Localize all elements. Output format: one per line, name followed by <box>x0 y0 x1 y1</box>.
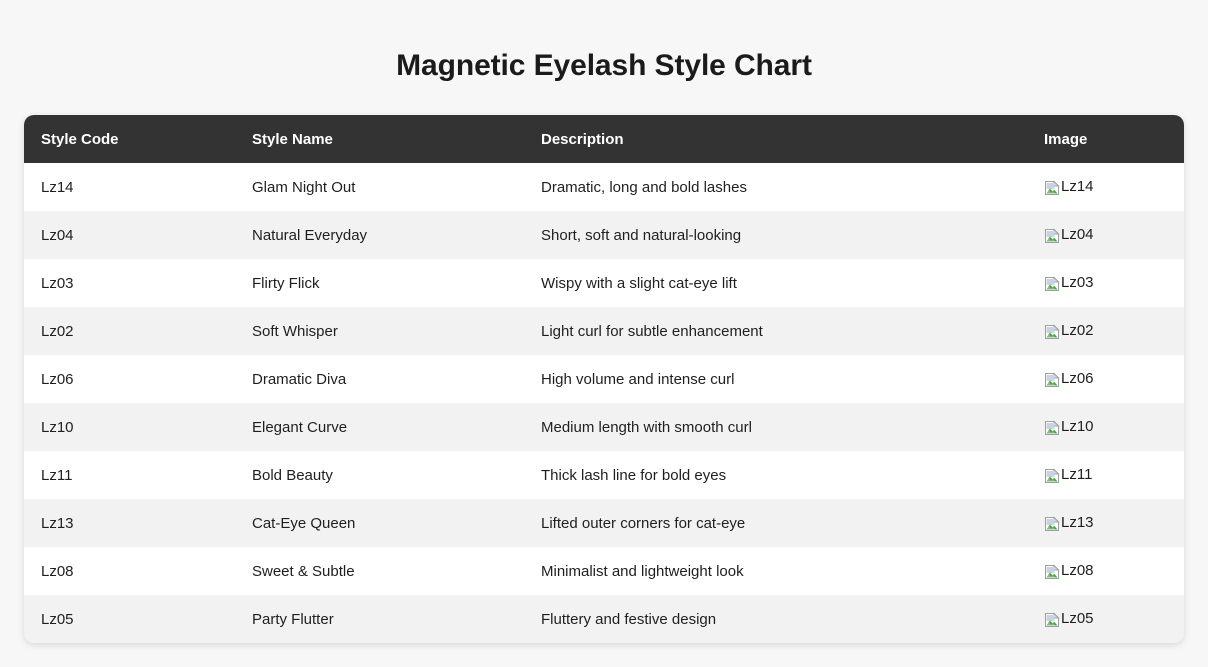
style-chart-card: Style Code Style Name Description Image … <box>24 115 1184 643</box>
cell-style-name: Party Flutter <box>235 595 524 643</box>
cell-image: Lz13 <box>1027 499 1184 547</box>
cell-style-name: Elegant Curve <box>235 403 524 451</box>
image-alt-text: Lz05 <box>1061 611 1094 627</box>
cell-description: Thick lash line for bold eyes <box>524 451 1027 499</box>
broken-image-icon <box>1044 276 1060 292</box>
table-body: Lz14 Glam Night Out Dramatic, long and b… <box>24 163 1184 643</box>
cell-style-code: Lz06 <box>24 355 235 403</box>
column-header-description[interactable]: Description <box>524 115 1027 163</box>
cell-style-code: Lz11 <box>24 451 235 499</box>
page-title: Magnetic Eyelash Style Chart <box>0 47 1208 85</box>
image-alt-text: Lz08 <box>1061 563 1094 579</box>
cell-style-name: Bold Beauty <box>235 451 524 499</box>
cell-style-name: Glam Night Out <box>235 163 524 211</box>
cell-style-name: Cat-Eye Queen <box>235 499 524 547</box>
cell-image: Lz05 <box>1027 595 1184 643</box>
cell-image: Lz14 <box>1027 163 1184 211</box>
cell-style-name: Sweet & Subtle <box>235 547 524 595</box>
image-alt-text: Lz06 <box>1061 371 1094 387</box>
cell-style-code: Lz02 <box>24 307 235 355</box>
cell-style-code: Lz05 <box>24 595 235 643</box>
column-header-image[interactable]: Image <box>1027 115 1184 163</box>
table-header: Style Code Style Name Description Image <box>24 115 1184 163</box>
broken-image-icon <box>1044 228 1060 244</box>
cell-style-code: Lz14 <box>24 163 235 211</box>
cell-style-name: Natural Everyday <box>235 211 524 259</box>
broken-image-icon <box>1044 468 1060 484</box>
cell-style-code: Lz10 <box>24 403 235 451</box>
table-row[interactable]: Lz11 Bold Beauty Thick lash line for bol… <box>24 451 1184 499</box>
table-header-row: Style Code Style Name Description Image <box>24 115 1184 163</box>
cell-image: Lz10 <box>1027 403 1184 451</box>
cell-image: Lz08 <box>1027 547 1184 595</box>
broken-image-icon <box>1044 612 1060 628</box>
broken-image-icon <box>1044 564 1060 580</box>
cell-image: Lz02 <box>1027 307 1184 355</box>
cell-style-code: Lz13 <box>24 499 235 547</box>
cell-description: Minimalist and lightweight look <box>524 547 1027 595</box>
table-row[interactable]: Lz10 Elegant Curve Medium length with sm… <box>24 403 1184 451</box>
table-row[interactable]: Lz04 Natural Everyday Short, soft and na… <box>24 211 1184 259</box>
image-alt-text: Lz13 <box>1061 515 1094 531</box>
column-header-style-code[interactable]: Style Code <box>24 115 235 163</box>
table-row[interactable]: Lz03 Flirty Flick Wispy with a slight ca… <box>24 259 1184 307</box>
cell-style-code: Lz03 <box>24 259 235 307</box>
cell-style-name: Soft Whisper <box>235 307 524 355</box>
cell-style-code: Lz08 <box>24 547 235 595</box>
image-alt-text: Lz04 <box>1061 227 1094 243</box>
broken-image-icon <box>1044 420 1060 436</box>
broken-image-icon <box>1044 324 1060 340</box>
cell-description: High volume and intense curl <box>524 355 1027 403</box>
page-root: Magnetic Eyelash Style Chart Style Code … <box>0 0 1208 667</box>
cell-image: Lz11 <box>1027 451 1184 499</box>
column-header-style-name[interactable]: Style Name <box>235 115 524 163</box>
cell-image: Lz04 <box>1027 211 1184 259</box>
cell-description: Light curl for subtle enhancement <box>524 307 1027 355</box>
cell-description: Fluttery and festive design <box>524 595 1027 643</box>
broken-image-icon <box>1044 516 1060 532</box>
cell-style-code: Lz04 <box>24 211 235 259</box>
cell-image: Lz03 <box>1027 259 1184 307</box>
cell-description: Dramatic, long and bold lashes <box>524 163 1027 211</box>
image-alt-text: Lz03 <box>1061 275 1094 291</box>
cell-description: Wispy with a slight cat-eye lift <box>524 259 1027 307</box>
cell-style-name: Dramatic Diva <box>235 355 524 403</box>
style-chart-table: Style Code Style Name Description Image … <box>24 115 1184 643</box>
cell-description: Short, soft and natural-looking <box>524 211 1027 259</box>
table-row[interactable]: Lz05 Party Flutter Fluttery and festive … <box>24 595 1184 643</box>
table-row[interactable]: Lz08 Sweet & Subtle Minimalist and light… <box>24 547 1184 595</box>
cell-style-name: Flirty Flick <box>235 259 524 307</box>
table-row[interactable]: Lz02 Soft Whisper Light curl for subtle … <box>24 307 1184 355</box>
image-alt-text: Lz02 <box>1061 323 1094 339</box>
cell-description: Lifted outer corners for cat-eye <box>524 499 1027 547</box>
cell-image: Lz06 <box>1027 355 1184 403</box>
table-row[interactable]: Lz14 Glam Night Out Dramatic, long and b… <box>24 163 1184 211</box>
image-alt-text: Lz14 <box>1061 179 1094 195</box>
image-alt-text: Lz10 <box>1061 419 1094 435</box>
cell-description: Medium length with smooth curl <box>524 403 1027 451</box>
table-row[interactable]: Lz13 Cat-Eye Queen Lifted outer corners … <box>24 499 1184 547</box>
table-row[interactable]: Lz06 Dramatic Diva High volume and inten… <box>24 355 1184 403</box>
broken-image-icon <box>1044 180 1060 196</box>
image-alt-text: Lz11 <box>1061 467 1092 483</box>
broken-image-icon <box>1044 372 1060 388</box>
